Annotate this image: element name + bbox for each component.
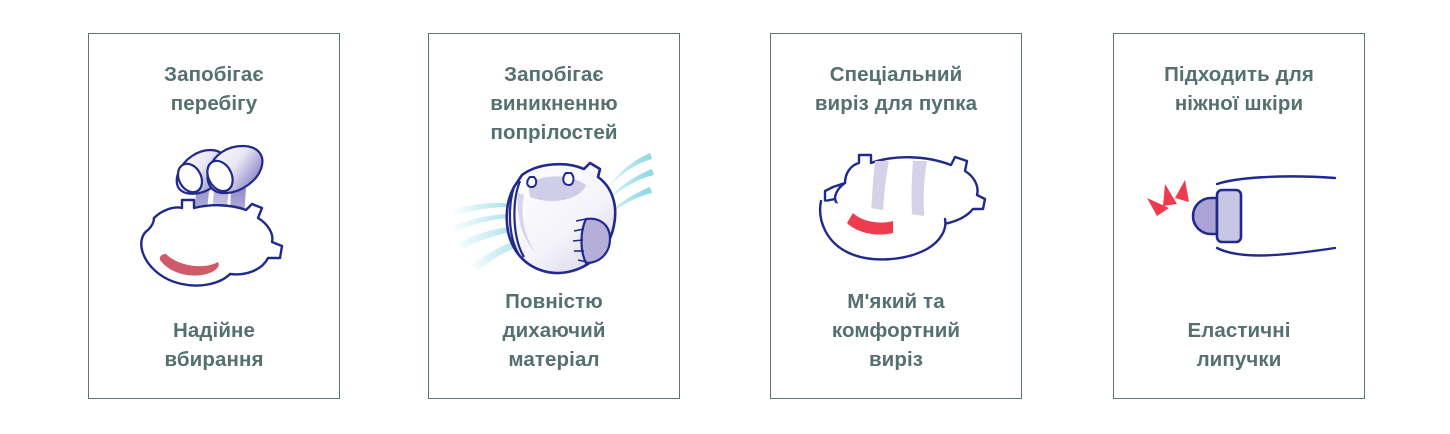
card-title: Запобігає перебігу bbox=[89, 60, 339, 118]
card-caption: М'який та комфортний виріз bbox=[771, 287, 1021, 374]
feature-card-elastic-tabs: Підходить для ніжної шкіри bbox=[1113, 33, 1365, 399]
card-caption: Еластичні липучки bbox=[1114, 316, 1364, 374]
card-illustration bbox=[429, 147, 679, 287]
feature-card-absorption: Запобігає перебігу bbox=[88, 33, 340, 399]
card-illustration bbox=[1114, 118, 1364, 316]
diaper-airflow-icon bbox=[454, 147, 654, 287]
diaper-navel-cutout-icon bbox=[801, 143, 991, 263]
card-illustration bbox=[89, 118, 339, 316]
card-title: Підходить для ніжної шкіри bbox=[1114, 60, 1364, 118]
card-title: Спеціальний виріз для пупка bbox=[771, 60, 1021, 118]
diaper-pouring-liquid-icon bbox=[134, 142, 294, 292]
feature-card-navel-cut: Спеціальний виріз для пупка М'я bbox=[770, 33, 1022, 399]
feature-grid: Запобігає перебігу bbox=[0, 0, 1450, 434]
card-caption: Надійне вбирання bbox=[89, 316, 339, 374]
card-caption: Повністю дихаючий матеріал bbox=[429, 287, 679, 374]
card-illustration bbox=[771, 118, 1021, 287]
feature-card-breathable: Запобігає виникненню попрілостей bbox=[428, 33, 680, 399]
elastic-fastener-tab-icon bbox=[1139, 162, 1339, 272]
card-title: Запобігає виникненню попрілостей bbox=[429, 60, 679, 147]
